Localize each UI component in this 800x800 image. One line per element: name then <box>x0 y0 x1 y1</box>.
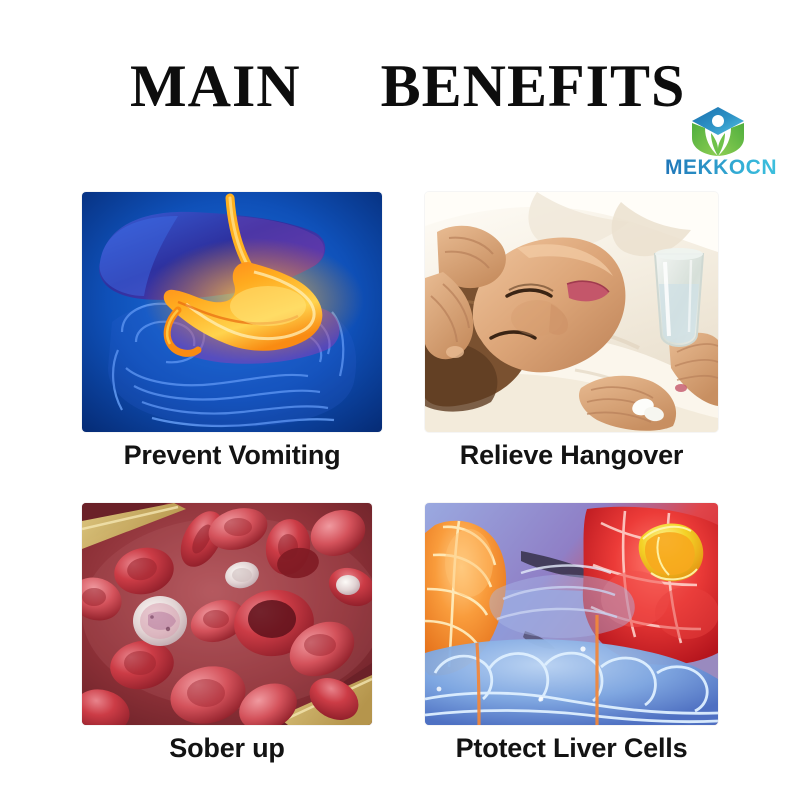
benefit-card-relieve-hangover: Relieve Hangover <box>425 192 718 484</box>
benefit-card-sober-up: Sober up <box>82 503 372 783</box>
liver-organs-medical-illustration <box>425 503 718 725</box>
woman-in-bed-with-headache-photo <box>425 192 718 432</box>
benefit-card-protect-liver: Ptotect Liver Cells <box>425 503 718 783</box>
red-blood-cells-illustration <box>82 503 372 725</box>
hexagon-leaf-logo-icon <box>687 104 749 158</box>
brand-wordmark: MEKKOCN <box>655 156 787 180</box>
benefit-label-protect-liver: Ptotect Liver Cells <box>425 733 718 764</box>
benefit-label-sober-up: Sober up <box>82 733 372 764</box>
brand-logo: MEKKOCN <box>655 104 787 180</box>
stomach-digestive-system-illustration <box>82 192 382 432</box>
header: MAIN BENEFITS <box>0 0 800 180</box>
benefit-label-relieve-hangover: Relieve Hangover <box>425 440 718 471</box>
benefit-card-prevent-vomiting: Prevent Vomiting <box>82 192 382 484</box>
page-title: MAIN BENEFITS <box>130 54 685 118</box>
benefit-label-prevent-vomiting: Prevent Vomiting <box>82 440 382 471</box>
